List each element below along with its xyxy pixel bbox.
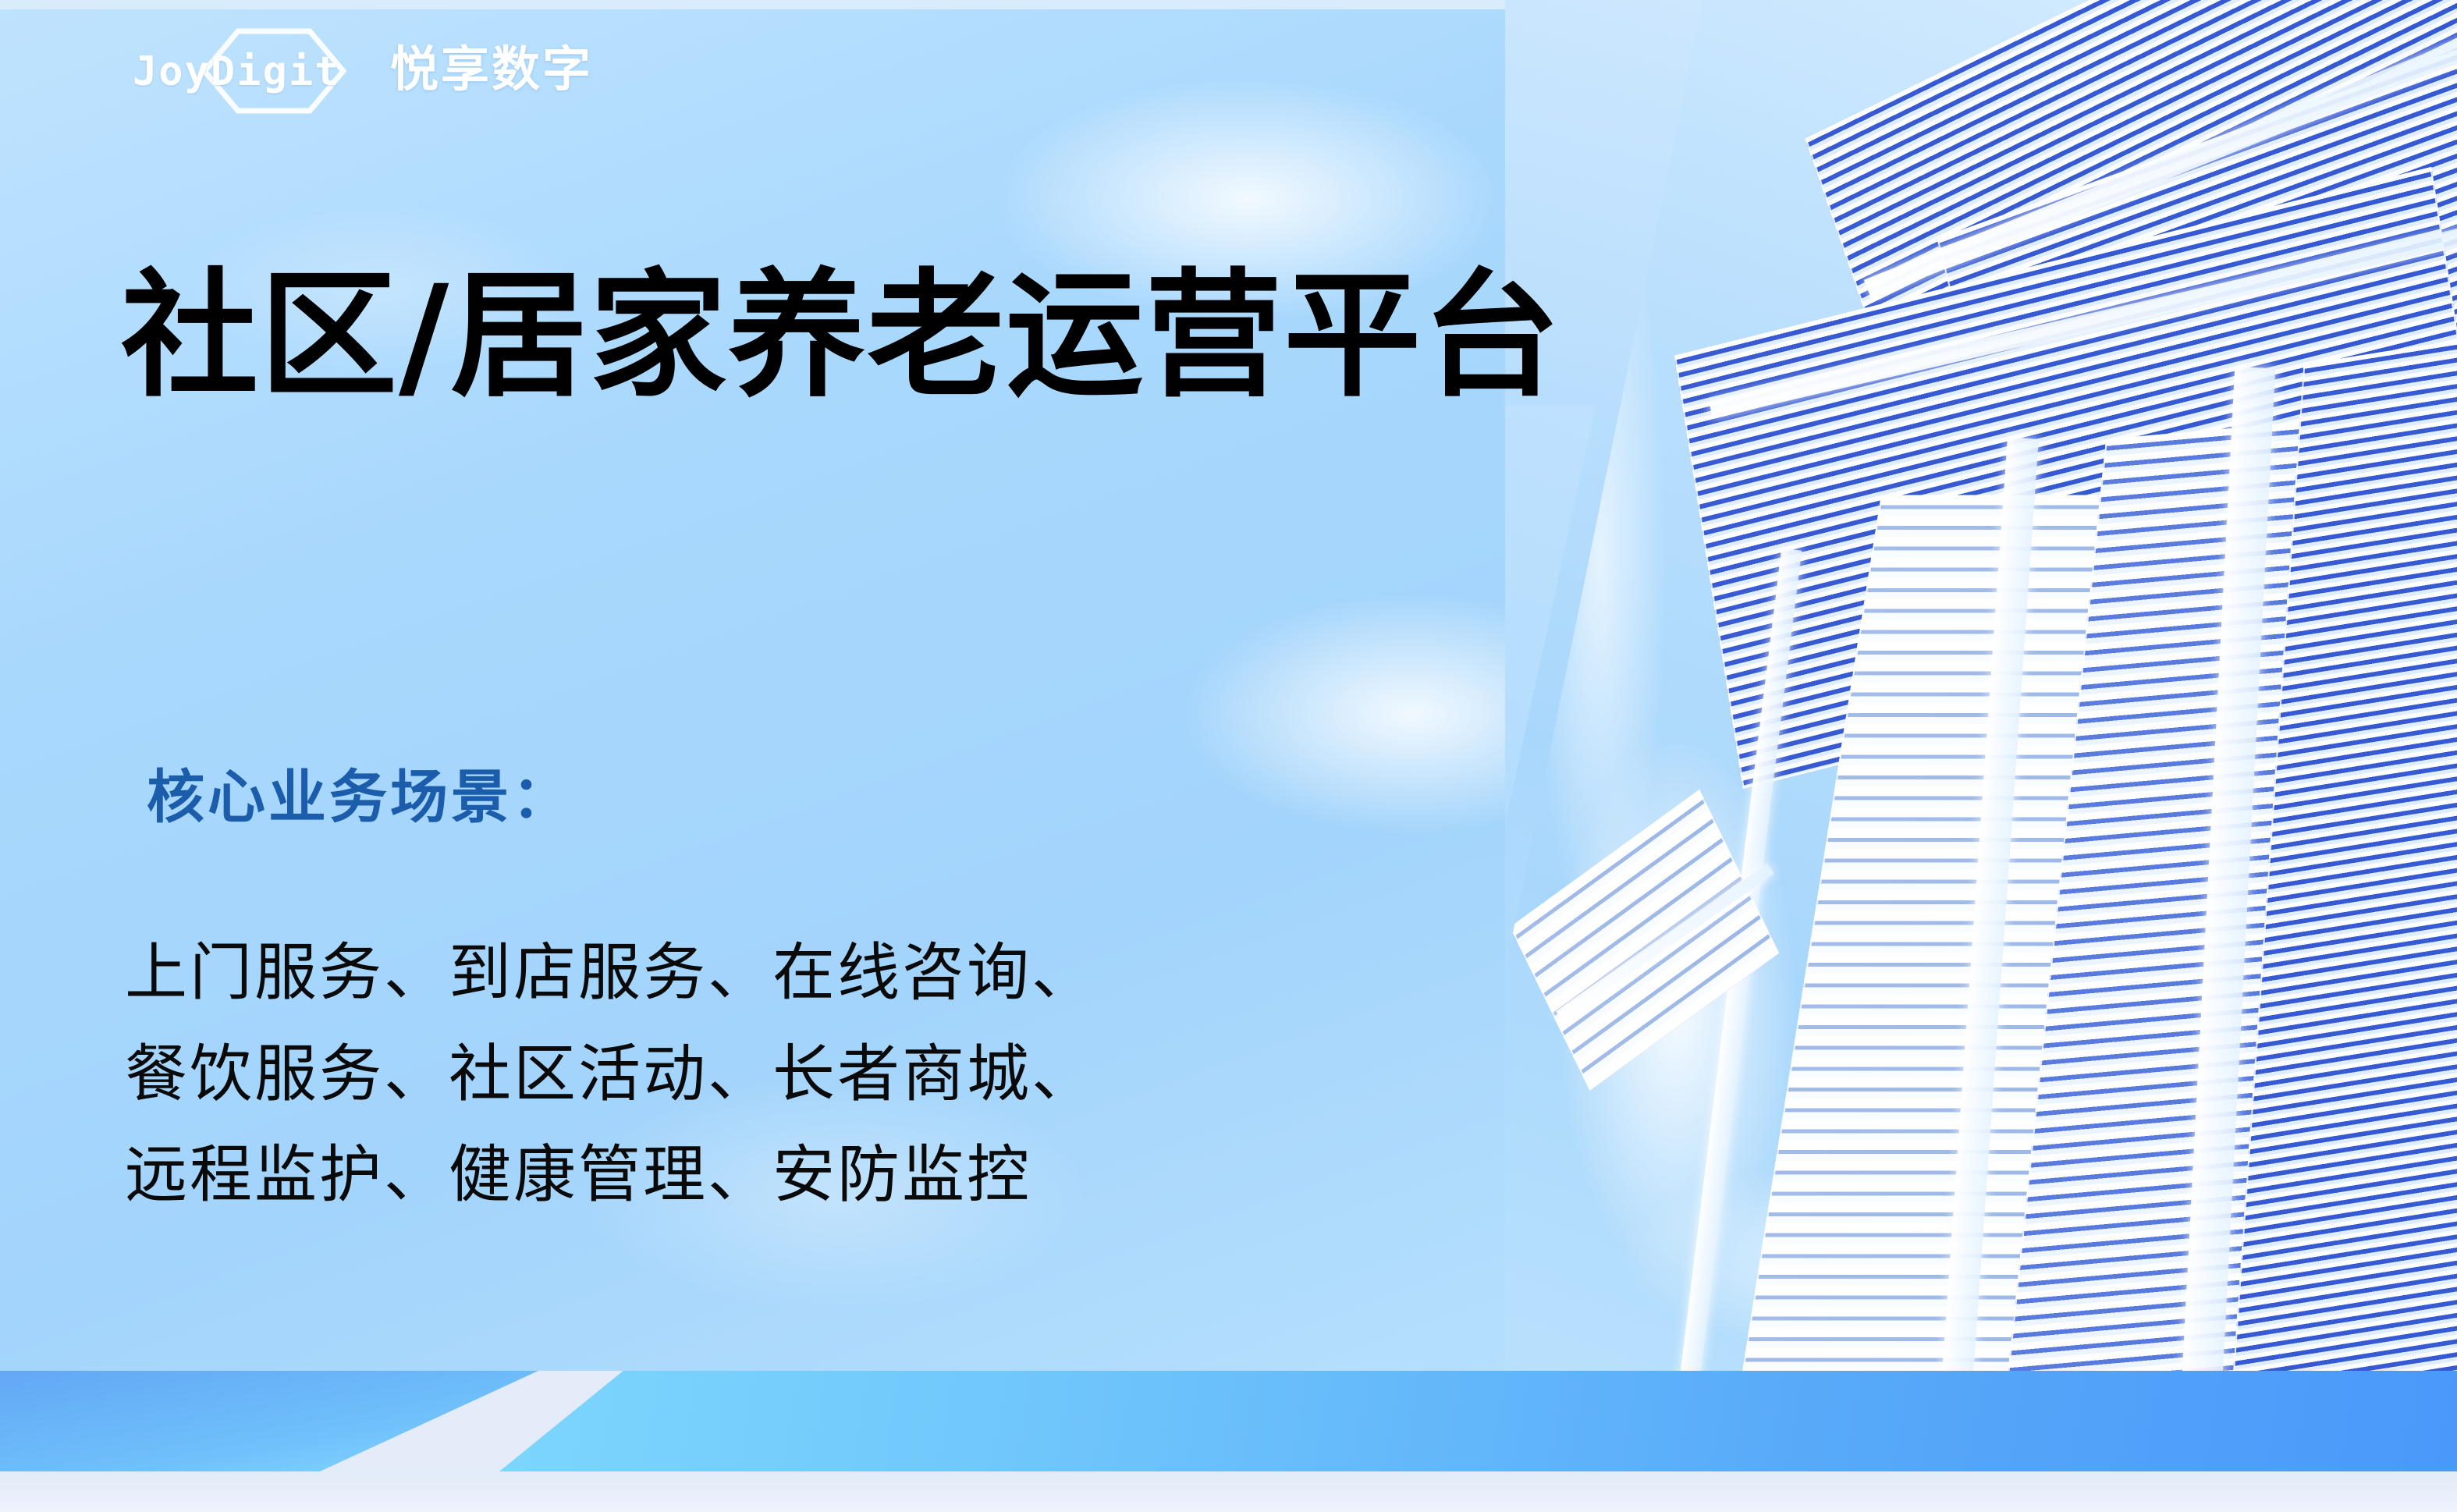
logo-wordmark: JoyDigit [133, 51, 340, 92]
footer-decorative-band [0, 1371, 2457, 1512]
brand-logo[interactable]: JoyDigit 悦享数字 [133, 28, 570, 114]
slide-root: JoyDigit 悦享数字 社区/居家养老运营平台 核心业务场景： 上门服务、到… [0, 0, 2457, 1512]
scenario-list: 上门服务、到店服务、在线咨询、 餐饮服务、社区活动、长者商城、 远程监护、健康管… [125, 922, 1096, 1226]
skyscraper-photo [1505, 0, 2457, 1397]
page-title: 社区/居家养老运营平台 [121, 259, 1561, 413]
scenario-line: 远程监护、健康管理、安防监控 [125, 1124, 1096, 1226]
scenario-line: 餐饮服务、社区活动、长者商城、 [125, 1024, 1096, 1125]
band-footer-strip [0, 1471, 2457, 1512]
scenario-line: 上门服务、到店服务、在线咨询、 [125, 922, 1096, 1024]
section-subheading: 核心业务场景： [147, 763, 573, 832]
band-right-parallelogram [499, 1371, 2457, 1471]
logo-chinese-name: 悦享数字 [390, 45, 593, 94]
